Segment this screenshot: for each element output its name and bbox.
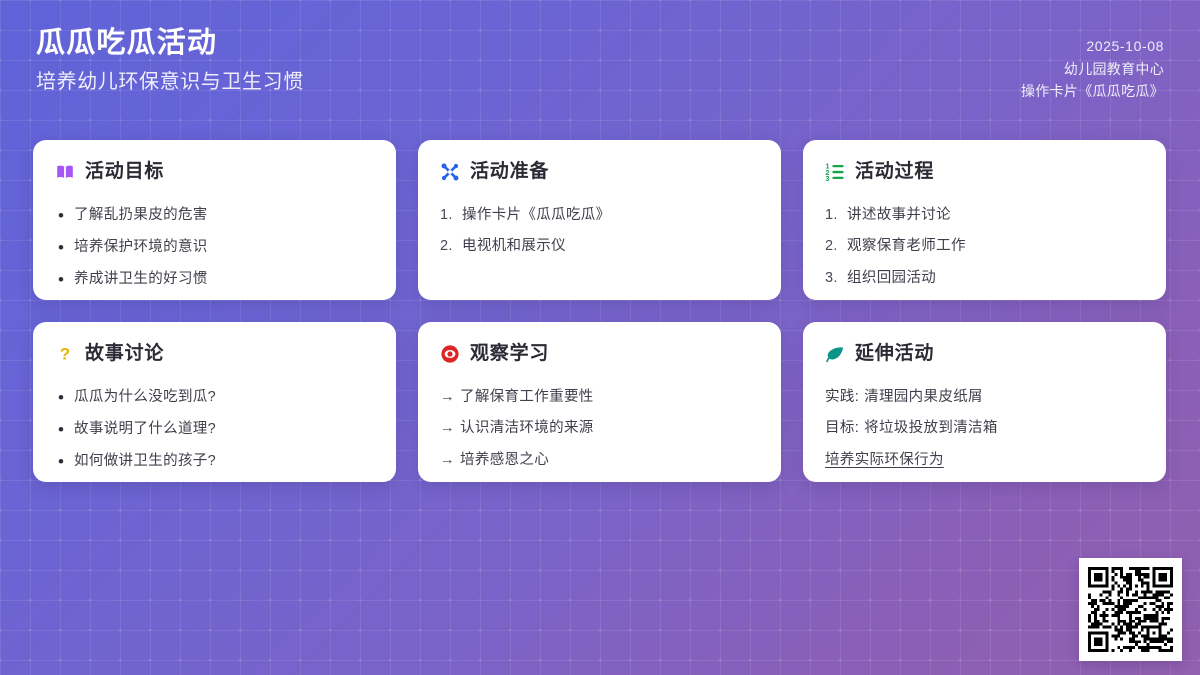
list-item-marker: •: [55, 452, 74, 472]
card: 活动准备1.操作卡片《瓜瓜吃瓜》2.电视机和展示仪: [418, 140, 781, 300]
header-title-group: 瓜瓜吃瓜活动 培养幼儿环保意识与卫生习惯: [36, 24, 304, 95]
list-item-text: 将垃圾投放到清洁箱: [864, 419, 1144, 438]
list-item: •如何做讲卫生的孩子?: [55, 452, 374, 472]
list-item-marker: 1.: [825, 206, 847, 225]
list-item-marker: 1.: [440, 206, 462, 225]
card-title: 故事讨论: [85, 344, 164, 365]
list-item: 3.组织回园活动: [825, 269, 1144, 288]
list-item: →认识清洁环境的来源: [440, 419, 759, 438]
card-body: 实践:清理园内果皮纸屑目标:将垃圾投放到清洁箱培养实际环保行为: [825, 388, 1144, 470]
eye-icon: [440, 344, 460, 364]
header-meta-group: 2025-10-08 幼儿园教育中心 操作卡片《瓜瓜吃瓜》: [1021, 24, 1164, 103]
card-title: 活动过程: [855, 162, 934, 183]
card-title: 延伸活动: [855, 344, 934, 365]
list-item-marker: •: [55, 388, 74, 408]
list-item-text: 讲述故事并讨论: [847, 206, 1144, 225]
card: ? 故事讨论•瓜瓜为什么没吃到瓜?•故事说明了什么道理?•如何做讲卫生的孩子?: [33, 322, 396, 482]
list-item-text: 故事说明了什么道理?: [74, 420, 374, 439]
meta-date: 2025-10-08: [1021, 35, 1164, 58]
list-item-text: 培养实际环保行为: [825, 451, 1144, 470]
list-item: 实践:清理园内果皮纸屑: [825, 388, 1144, 407]
list-item-text: 养成讲卫生的好习惯: [74, 270, 374, 289]
card-title: 观察学习: [470, 344, 549, 365]
list-item: →了解保育工作重要性: [440, 388, 759, 407]
card: 延伸活动实践:清理园内果皮纸屑目标:将垃圾投放到清洁箱培养实际环保行为: [803, 322, 1166, 482]
list-item-text: 组织回园活动: [847, 269, 1144, 288]
list-item-text: 电视机和展示仪: [462, 237, 759, 256]
list-item: 2.观察保育老师工作: [825, 237, 1144, 256]
card-header: 活动目标: [55, 159, 374, 185]
list-item: •瓜瓜为什么没吃到瓜?: [55, 388, 374, 408]
list-item-text: 如何做讲卫生的孩子?: [74, 452, 374, 471]
open-book-icon: [55, 162, 75, 182]
card: 观察学习→了解保育工作重要性→认识清洁环境的来源→培养感恩之心: [418, 322, 781, 482]
list-item: 培养实际环保行为: [825, 451, 1144, 470]
card-title: 活动准备: [470, 162, 549, 183]
question-mark-icon: ?: [55, 344, 75, 364]
page-subtitle: 培养幼儿环保意识与卫生习惯: [36, 69, 304, 95]
card-title: 活动目标: [85, 162, 164, 183]
leaf-icon: [825, 344, 845, 364]
card-header: 活动准备: [440, 159, 759, 185]
list-item-marker: →: [440, 419, 460, 438]
list-item: •培养保护环境的意识: [55, 238, 374, 258]
list-item-text: 培养感恩之心: [460, 451, 759, 470]
list-item-text: 观察保育老师工作: [847, 237, 1144, 256]
list-item-text: 操作卡片《瓜瓜吃瓜》: [462, 206, 759, 225]
list-item-marker: 实践:: [825, 388, 859, 407]
list-item-marker: 2.: [825, 237, 847, 256]
card-body: •了解乱扔果皮的危害•培养保护环境的意识•养成讲卫生的好习惯: [55, 206, 374, 290]
card-body: •瓜瓜为什么没吃到瓜?•故事说明了什么道理?•如何做讲卫生的孩子?: [55, 388, 374, 472]
page-title: 瓜瓜吃瓜活动: [36, 26, 304, 61]
card-header: 延伸活动: [825, 341, 1144, 367]
list-item-marker: •: [55, 270, 74, 290]
card-header: 1 2 3 活动过程: [825, 159, 1144, 185]
list-item-text: 培养保护环境的意识: [74, 238, 374, 257]
list-item-marker: •: [55, 238, 74, 258]
hammer-and-wrench-icon: [440, 162, 460, 182]
card-body: →了解保育工作重要性→认识清洁环境的来源→培养感恩之心: [440, 388, 759, 470]
slide-canvas: 瓜瓜吃瓜活动 培养幼儿环保意识与卫生习惯 2025-10-08 幼儿园教育中心 …: [0, 0, 1200, 675]
card: 1 2 3 活动过程1.讲述故事并讨论2.观察保育老师工作3.组织回园活动: [803, 140, 1166, 300]
list-item-marker: 目标:: [825, 419, 859, 438]
card-header: 观察学习: [440, 341, 759, 367]
list-item-marker: •: [55, 420, 74, 440]
list-item-text: 认识清洁环境的来源: [460, 419, 759, 438]
qr-code-container[interactable]: [1079, 558, 1182, 661]
list-item: 2.电视机和展示仪: [440, 237, 759, 256]
list-item-text: 清理园内果皮纸屑: [864, 388, 1144, 407]
card: 活动目标•了解乱扔果皮的危害•培养保护环境的意识•养成讲卫生的好习惯: [33, 140, 396, 300]
card-body: 1.操作卡片《瓜瓜吃瓜》2.电视机和展示仪: [440, 206, 759, 257]
list-item: •了解乱扔果皮的危害: [55, 206, 374, 226]
list-item-marker: •: [55, 206, 74, 226]
list-item-text: 瓜瓜为什么没吃到瓜?: [74, 388, 374, 407]
list-item-text: 了解乱扔果皮的危害: [74, 206, 374, 225]
list-item: →培养感恩之心: [440, 451, 759, 470]
card-body: 1.讲述故事并讨论2.观察保育老师工作3.组织回园活动: [825, 206, 1144, 288]
list-item: •故事说明了什么道理?: [55, 420, 374, 440]
list-item-marker: 3.: [825, 269, 847, 288]
qr-code: [1088, 567, 1173, 652]
card-header: ? 故事讨论: [55, 341, 374, 367]
svg-text:3: 3: [825, 174, 829, 182]
list-item-text: 了解保育工作重要性: [460, 388, 759, 407]
list-item: 1.讲述故事并讨论: [825, 206, 1144, 225]
list-item: 1.操作卡片《瓜瓜吃瓜》: [440, 206, 759, 225]
svg-text:?: ?: [60, 345, 70, 364]
list-item: •养成讲卫生的好习惯: [55, 270, 374, 290]
card-grid: 活动目标•了解乱扔果皮的危害•培养保护环境的意识•养成讲卫生的好习惯 活动准备1…: [33, 140, 1167, 482]
slide-header: 瓜瓜吃瓜活动 培养幼儿环保意识与卫生习惯 2025-10-08 幼儿园教育中心 …: [0, 0, 1200, 128]
numbered-list-icon: 1 2 3: [825, 162, 845, 182]
list-item-marker: 2.: [440, 237, 462, 256]
list-item-marker: →: [440, 388, 460, 407]
list-item: 目标:将垃圾投放到清洁箱: [825, 419, 1144, 438]
meta-organization: 幼儿园教育中心: [1021, 58, 1164, 81]
list-item-marker: →: [440, 451, 460, 470]
meta-source: 操作卡片《瓜瓜吃瓜》: [1021, 80, 1164, 103]
